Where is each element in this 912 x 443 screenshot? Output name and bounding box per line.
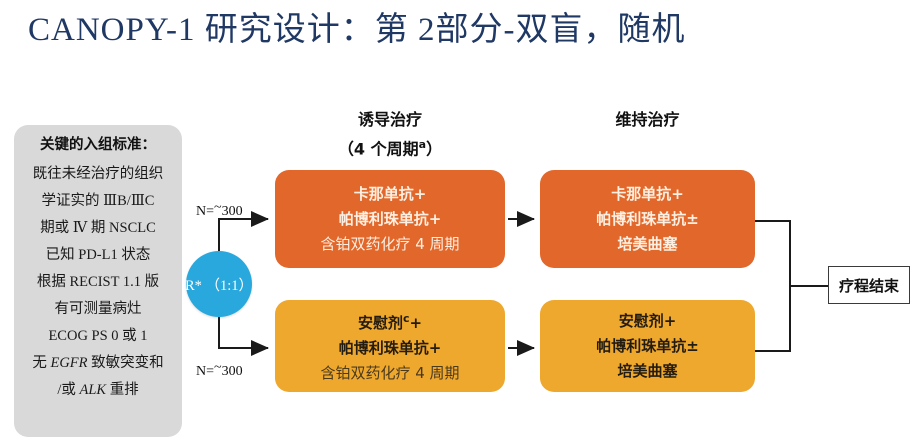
criteria-item: 已知 PD-L1 状态 <box>20 242 176 269</box>
connector-rand-to-induction-active <box>219 219 268 251</box>
arm-box-induction-active: 卡那单抗+ 帕博利珠单抗+ 含铂双药化疗 4 周期 <box>275 170 505 268</box>
criteria-heading: 关键的入组标准： <box>20 135 176 155</box>
column-header-induction: 诱导治疗 （4 个周期a） <box>275 107 505 161</box>
arm-box-maintenance-placebo: 安慰剂+ 帕博利珠单抗± 培美曲塞 <box>540 300 755 392</box>
criteria-item: 期或 Ⅳ 期 NSCLC <box>20 215 176 242</box>
column-header-induction-line2: （4 个周期a） <box>275 132 505 161</box>
arm-line: 含铂双药化疗 4 周期 <box>320 232 459 257</box>
arm-line: 卡那单抗+ <box>354 182 427 207</box>
n-label-upper-arm: N=~300 <box>196 204 243 220</box>
arm-line: 帕博利珠单抗+ <box>339 336 442 361</box>
arm-line: 含铂双药化疗 4 周期 <box>320 361 459 386</box>
criteria-item: /或 ALK 重排 <box>20 377 176 404</box>
column-header-maintenance: 维持治疗 <box>540 107 755 132</box>
arm-line: 培美曲塞 <box>617 359 677 384</box>
arm-line: 安慰剂+ <box>619 309 677 334</box>
arm-box-maintenance-active: 卡那单抗+ 帕博利珠单抗± 培美曲塞 <box>540 170 755 268</box>
criteria-item: 学证实的 ⅢB/ⅢC <box>20 188 176 215</box>
randomization-node: R* （1:1） <box>186 251 252 317</box>
arm-line: 卡那单抗+ <box>611 182 684 207</box>
column-header-induction-line1: 诱导治疗 <box>275 107 505 132</box>
arm-line: 帕博利珠单抗± <box>596 207 699 232</box>
arm-line: 安慰剂c+ <box>358 306 422 336</box>
criteria-item: 有可测量病灶 <box>20 296 176 323</box>
criteria-item: 既往未经治疗的组织 <box>20 161 176 188</box>
criteria-item: 无 EGFR 致敏突变和 <box>20 350 176 377</box>
connector-rand-to-induction-placebo <box>219 317 268 348</box>
end-of-treatment-box: 疗程结束 <box>828 266 910 304</box>
criteria-item: 根据 RECIST 1.1 版 <box>20 269 176 296</box>
arm-box-induction-placebo: 安慰剂c+ 帕博利珠单抗+ 含铂双药化疗 4 周期 <box>275 300 505 392</box>
arm-line: 帕博利珠单抗± <box>596 334 699 359</box>
page-title: CANOPY-1 研究设计：第 2部分-双盲，随机 <box>28 8 888 52</box>
connector-bracket-to-end <box>755 221 790 351</box>
criteria-item: ECOG PS 0 或 1 <box>20 323 176 350</box>
arm-line: 培美曲塞 <box>617 232 677 257</box>
arm-line: 帕博利珠单抗+ <box>339 207 442 232</box>
n-label-lower-arm: N=~300 <box>196 364 243 380</box>
column-header-maintenance-line1: 维持治疗 <box>540 107 755 132</box>
key-inclusion-criteria-panel: 关键的入组标准： 既往未经治疗的组织 学证实的 ⅢB/ⅢC 期或 Ⅳ 期 NSC… <box>14 125 182 437</box>
